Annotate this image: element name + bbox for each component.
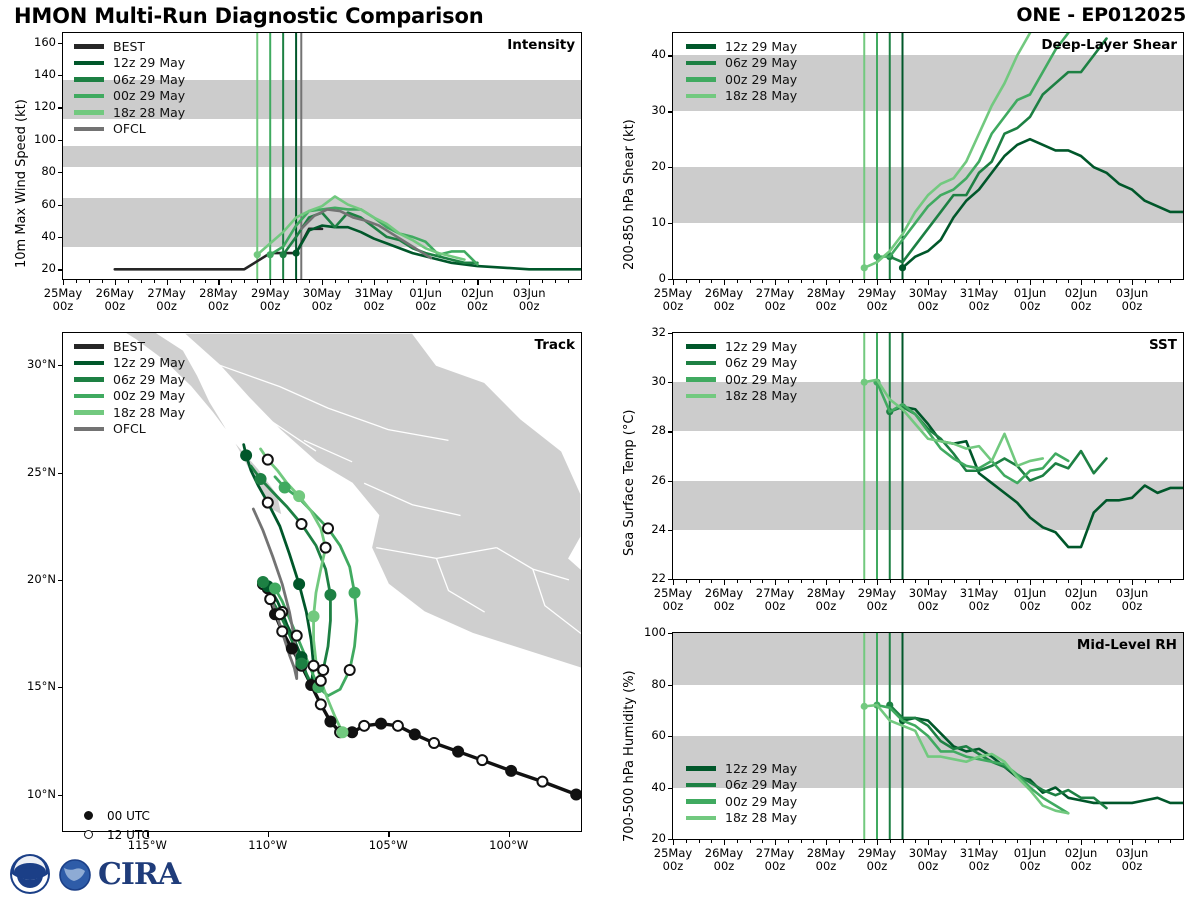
y-axis-tick-label: 30 xyxy=(630,103,666,117)
track-marker-00utc xyxy=(258,577,268,587)
x-axis-minor-tick xyxy=(516,279,517,283)
x-axis-minor-tick xyxy=(750,839,751,843)
x-axis-minor-tick xyxy=(762,579,763,583)
track-marker-00utc xyxy=(280,483,290,493)
legend-swatch xyxy=(686,394,716,399)
legend-label: 00z 29 May xyxy=(725,794,797,809)
legend-swatch xyxy=(686,61,716,66)
x-axis-minor-tick xyxy=(737,279,738,283)
legend-swatch xyxy=(686,344,716,349)
x-axis-tick xyxy=(374,279,375,285)
track-marker-12utc xyxy=(277,626,287,636)
x-axis-minor-tick xyxy=(954,579,955,583)
x-axis-minor-tick xyxy=(1043,839,1044,843)
x-axis-tick xyxy=(167,279,168,285)
x-axis-tick xyxy=(1081,579,1082,585)
cira-wordmark: CIRA xyxy=(98,857,180,892)
track-marker-00utc xyxy=(506,766,516,776)
legend-label: 18z 28 May xyxy=(725,810,797,825)
x-axis-minor-tick xyxy=(788,839,789,843)
x-axis-minor-tick xyxy=(686,839,687,843)
x-axis-minor-tick xyxy=(1005,579,1006,583)
x-axis-tick xyxy=(1030,279,1031,285)
x-axis-minor-tick xyxy=(864,279,865,283)
x-axis-tick xyxy=(1132,839,1133,845)
track-marker-12utc xyxy=(309,661,319,671)
x-axis-minor-tick xyxy=(283,279,284,283)
x-axis-tick xyxy=(724,279,725,285)
x-axis-tick xyxy=(724,579,725,585)
track-marker-00utc xyxy=(376,719,386,729)
x-axis-minor-tick xyxy=(954,839,955,843)
x-axis-minor-tick xyxy=(864,579,865,583)
x-axis-minor-tick xyxy=(686,579,687,583)
legend-track: BEST12z 29 May06z 29 May00z 29 May18z 28… xyxy=(74,338,185,437)
track-marker-00utc xyxy=(241,450,251,460)
axis-label-rh: 700-500 hPa Humidity (%) xyxy=(622,670,637,842)
x-axis-minor-tick xyxy=(1158,839,1159,843)
legend-label: OFCL xyxy=(113,121,146,136)
marker-legend-label: 12 UTC xyxy=(107,828,150,842)
y-axis-tick-label: 32 xyxy=(630,325,666,339)
legend-item: 00z 29 May xyxy=(74,88,185,105)
x-axis-minor-tick xyxy=(439,279,440,283)
y-axis-tick-label: 40 xyxy=(630,780,666,794)
series-init-marker xyxy=(861,264,868,271)
x-axis-minor-tick xyxy=(890,839,891,843)
globe-icon xyxy=(56,854,94,894)
x-axis-minor-tick xyxy=(699,579,700,583)
x-axis-minor-tick xyxy=(762,839,763,843)
x-axis-minor-tick xyxy=(941,279,942,283)
legend-item: 18z 28 May xyxy=(74,404,185,421)
legend-marker-times: 00 UTC12 UTC xyxy=(74,806,150,844)
x-axis-minor-tick xyxy=(387,279,388,283)
latitude-tick-label: 10°N xyxy=(10,787,56,801)
x-axis-tick xyxy=(724,839,725,845)
x-axis-minor-tick xyxy=(903,839,904,843)
longitude-tick xyxy=(509,831,510,837)
x-axis-minor-tick xyxy=(1170,839,1171,843)
x-axis-minor-tick xyxy=(788,279,789,283)
track-marker-00utc xyxy=(453,747,463,757)
track-marker-12utc xyxy=(323,523,333,533)
legend-item: BEST xyxy=(74,338,185,355)
legend-label: 00z 29 May xyxy=(725,72,797,87)
x-axis-tick xyxy=(673,839,674,845)
x-axis-minor-tick xyxy=(711,579,712,583)
track-marker-12utc xyxy=(537,777,547,787)
legend-item: 06z 29 May xyxy=(74,371,185,388)
x-axis-tick-label: 03Jun00z xyxy=(1098,847,1166,873)
track-marker-12utc xyxy=(263,455,273,465)
track-marker-00utc xyxy=(347,727,357,737)
x-axis-minor-tick xyxy=(801,579,802,583)
noaa-logo-icon: NOAA xyxy=(8,852,52,896)
x-axis-minor-tick xyxy=(1043,279,1044,283)
x-axis-minor-tick xyxy=(1017,279,1018,283)
panel-title-intensity: Intensity xyxy=(507,37,575,53)
x-axis-minor-tick xyxy=(1094,279,1095,283)
legend-label: 06z 29 May xyxy=(113,372,185,387)
marker-legend-item: 00 UTC xyxy=(74,806,150,825)
x-axis-minor-tick xyxy=(852,839,853,843)
series-line xyxy=(864,705,1068,813)
x-axis-minor-tick xyxy=(903,279,904,283)
track-marker-00utc xyxy=(309,611,319,621)
series-init-marker xyxy=(254,251,261,258)
longitude-tick xyxy=(388,831,389,837)
x-axis-minor-tick xyxy=(490,279,491,283)
legend-item: 12z 29 May xyxy=(686,338,797,355)
x-axis-minor-tick xyxy=(244,279,245,283)
y-axis-tick-label: 22 xyxy=(630,571,666,585)
track-marker-00utc xyxy=(410,729,420,739)
track-marker-12utc xyxy=(316,676,326,686)
track-marker-00utc xyxy=(350,588,360,598)
track-marker-00utc xyxy=(294,579,304,589)
legend-label: BEST xyxy=(113,39,145,54)
legend-swatch xyxy=(686,44,716,49)
x-axis-minor-tick xyxy=(915,839,916,843)
x-axis-minor-tick xyxy=(102,279,103,283)
legend-item: 12z 29 May xyxy=(74,55,185,72)
y-axis-tick-label: 20 xyxy=(630,159,666,173)
x-axis-minor-tick xyxy=(992,579,993,583)
x-axis-minor-tick xyxy=(839,839,840,843)
x-axis-minor-tick xyxy=(309,279,310,283)
x-axis-minor-tick xyxy=(762,279,763,283)
x-axis-tick xyxy=(673,279,674,285)
legend-swatch xyxy=(686,766,716,771)
x-axis-tick xyxy=(1030,839,1031,845)
x-axis-tick xyxy=(877,579,878,585)
x-axis-minor-tick xyxy=(348,279,349,283)
legend-item: BEST xyxy=(74,38,185,55)
x-axis-minor-tick xyxy=(154,279,155,283)
legend-label: 12z 29 May xyxy=(725,761,797,776)
legend-label: 12z 29 May xyxy=(113,355,185,370)
x-axis-minor-tick xyxy=(954,279,955,283)
x-axis-minor-tick xyxy=(852,279,853,283)
x-axis-tick-label: 03Jun00z xyxy=(495,287,563,313)
legend-label: 18z 28 May xyxy=(113,105,185,120)
x-axis-tick xyxy=(673,579,674,585)
x-axis-minor-tick xyxy=(711,839,712,843)
track-marker-12utc xyxy=(263,498,273,508)
y-axis-tick-label: 40 xyxy=(20,229,56,243)
track-marker-00utc xyxy=(270,583,280,593)
x-axis-tick xyxy=(979,839,980,845)
x-axis-minor-tick xyxy=(839,279,840,283)
x-axis-minor-tick xyxy=(813,279,814,283)
series-init-marker xyxy=(267,251,274,258)
x-axis-minor-tick xyxy=(555,279,556,283)
x-axis-tick xyxy=(1081,279,1082,285)
x-axis-tick xyxy=(775,579,776,585)
x-axis-minor-tick xyxy=(737,839,738,843)
legend-sst: 12z 29 May06z 29 May00z 29 May18z 28 May xyxy=(686,338,797,404)
x-axis-minor-tick xyxy=(180,279,181,283)
y-axis-tick-label: 120 xyxy=(20,99,56,113)
x-axis-tick xyxy=(775,279,776,285)
legend-swatch xyxy=(74,94,104,99)
legend-item: 00z 29 May xyxy=(686,371,797,388)
x-axis-tick xyxy=(1132,279,1133,285)
legend-item: 18z 28 May xyxy=(74,104,185,121)
y-axis-tick-label: 24 xyxy=(630,522,666,536)
legend-item: 12z 29 May xyxy=(686,760,797,777)
panel-title-rh: Mid-Level RH xyxy=(1077,637,1177,653)
x-axis-minor-tick xyxy=(699,839,700,843)
x-axis-minor-tick xyxy=(890,279,891,283)
legend-label: 12z 29 May xyxy=(725,39,797,54)
y-axis-tick-label: 30 xyxy=(630,374,666,388)
y-axis-tick-label: 40 xyxy=(630,47,666,61)
track-marker-00utc xyxy=(256,474,266,484)
x-axis-minor-tick xyxy=(737,579,738,583)
series-line xyxy=(903,139,1184,268)
x-axis-tick xyxy=(1132,579,1133,585)
y-axis-tick-label: 10 xyxy=(630,215,666,229)
x-axis-minor-tick xyxy=(89,279,90,283)
y-axis-tick-label: 0 xyxy=(630,271,666,285)
x-axis-minor-tick xyxy=(1119,839,1120,843)
track-marker-00utc xyxy=(297,659,307,669)
x-axis-minor-tick xyxy=(296,279,297,283)
legend-item: 06z 29 May xyxy=(686,355,797,372)
legend-item: 06z 29 May xyxy=(686,777,797,794)
legend-item: 06z 29 May xyxy=(74,71,185,88)
panel-title-track: Track xyxy=(535,337,575,353)
x-axis-minor-tick xyxy=(1170,579,1171,583)
track-marker-12utc xyxy=(321,543,331,553)
legend-swatch xyxy=(74,61,104,66)
filled-circle-icon xyxy=(84,811,93,820)
x-axis-minor-tick xyxy=(76,279,77,283)
marker-legend-label: 00 UTC xyxy=(107,809,150,823)
x-axis-minor-tick xyxy=(231,279,232,283)
x-axis-minor-tick xyxy=(788,579,789,583)
diagnostic-figure: HMON Multi-Run Diagnostic Comparison ONE… xyxy=(0,0,1200,900)
x-axis-minor-tick xyxy=(335,279,336,283)
x-axis-tick xyxy=(928,839,929,845)
legend-swatch xyxy=(686,77,716,82)
legend-swatch xyxy=(686,799,716,804)
series-line xyxy=(890,39,1107,263)
legend-swatch xyxy=(74,110,104,115)
y-axis-tick-label: 160 xyxy=(20,35,56,49)
legend-label: BEST xyxy=(113,339,145,354)
x-axis-tick xyxy=(63,279,64,285)
x-axis-minor-tick xyxy=(1017,579,1018,583)
track-marker-12utc xyxy=(345,665,355,675)
x-axis-minor-tick xyxy=(1170,279,1171,283)
x-axis-tick xyxy=(775,839,776,845)
page-title: HMON Multi-Run Diagnostic Comparison xyxy=(14,4,483,28)
latitude-tick-label: 30°N xyxy=(10,357,56,371)
x-axis-tick xyxy=(426,279,427,285)
x-axis-minor-tick xyxy=(903,579,904,583)
x-axis-minor-tick xyxy=(1056,279,1057,283)
longitude-tick-label: 100°W xyxy=(475,839,543,852)
x-axis-minor-tick xyxy=(915,579,916,583)
series-init-marker xyxy=(861,379,868,386)
legend-label: 06z 29 May xyxy=(725,55,797,70)
legend-label: 00z 29 May xyxy=(113,88,185,103)
series-init-marker xyxy=(280,251,287,258)
x-axis-minor-tick xyxy=(915,279,916,283)
x-axis-minor-tick xyxy=(801,839,802,843)
axis-label-shear: 200-850 hPa Shear (kt) xyxy=(622,119,637,270)
x-axis-tick xyxy=(928,279,929,285)
series-init-marker xyxy=(861,703,868,710)
panel-title-shear: Deep-Layer Shear xyxy=(1041,37,1177,53)
track-marker-00utc xyxy=(337,727,347,737)
x-axis-minor-tick xyxy=(1119,579,1120,583)
y-axis-tick-label: 140 xyxy=(20,67,56,81)
track-marker-12utc xyxy=(316,699,326,709)
x-axis-minor-tick xyxy=(801,279,802,283)
x-axis-tick xyxy=(477,279,478,285)
legend-item: 00z 29 May xyxy=(74,388,185,405)
y-axis-tick-label: 28 xyxy=(630,423,666,437)
x-axis-tick xyxy=(218,279,219,285)
x-axis-tick-label: 03Jun00z xyxy=(1098,287,1166,313)
x-axis-minor-tick xyxy=(750,279,751,283)
x-axis-minor-tick xyxy=(568,279,569,283)
x-axis-minor-tick xyxy=(1094,839,1095,843)
legend-label: OFCL xyxy=(113,421,146,436)
legend-swatch xyxy=(74,44,104,49)
x-axis-minor-tick xyxy=(361,279,362,283)
x-axis-minor-tick xyxy=(141,279,142,283)
legend-label: 06z 29 May xyxy=(725,777,797,792)
x-axis-tick xyxy=(1030,579,1031,585)
track-marker-12utc xyxy=(477,755,487,765)
x-axis-minor-tick xyxy=(1056,839,1057,843)
x-axis-minor-tick xyxy=(205,279,206,283)
legend-item: OFCL xyxy=(74,421,185,438)
x-axis-minor-tick xyxy=(1107,279,1108,283)
longitude-tick-label: 105°W xyxy=(354,839,422,852)
y-axis-tick-label: 60 xyxy=(20,197,56,211)
x-axis-tick xyxy=(826,579,827,585)
track-marker-00utc xyxy=(287,644,297,654)
x-axis-minor-tick xyxy=(992,839,993,843)
x-axis-minor-tick xyxy=(992,279,993,283)
x-axis-minor-tick xyxy=(128,279,129,283)
x-axis-minor-tick xyxy=(1145,839,1146,843)
legend-item: 00z 29 May xyxy=(686,793,797,810)
track-marker-12utc xyxy=(292,631,302,641)
x-axis-tick xyxy=(270,279,271,285)
x-axis-minor-tick xyxy=(1158,579,1159,583)
legend-shear: 12z 29 May06z 29 May00z 29 May18z 28 May xyxy=(686,38,797,104)
track-marker-12utc xyxy=(275,609,285,619)
x-axis-minor-tick xyxy=(966,279,967,283)
legend-swatch xyxy=(686,816,716,821)
x-axis-minor-tick xyxy=(966,839,967,843)
marker-legend-item: 12 UTC xyxy=(74,825,150,844)
x-axis-minor-tick xyxy=(966,579,967,583)
track-marker-00utc xyxy=(325,717,335,727)
x-axis-minor-tick xyxy=(400,279,401,283)
legend-label: 12z 29 May xyxy=(113,55,185,70)
track-marker-12utc xyxy=(393,721,403,731)
legend-swatch xyxy=(74,410,104,415)
series-init-marker xyxy=(899,264,906,271)
x-axis-tick xyxy=(826,279,827,285)
track-marker-00utc xyxy=(571,790,581,800)
x-axis-minor-tick xyxy=(864,839,865,843)
x-axis-minor-tick xyxy=(1107,579,1108,583)
x-axis-minor-tick xyxy=(1068,279,1069,283)
x-axis-tick xyxy=(826,839,827,845)
legend-label: 12z 29 May xyxy=(725,339,797,354)
x-axis-minor-tick xyxy=(542,279,543,283)
open-circle-icon xyxy=(84,830,93,839)
x-axis-minor-tick xyxy=(193,279,194,283)
x-axis-tick xyxy=(928,579,929,585)
legend-item: OFCL xyxy=(74,121,185,138)
series-line xyxy=(877,382,1068,483)
x-axis-tick xyxy=(1081,839,1082,845)
legend-item: 00z 29 May xyxy=(686,71,797,88)
legend-swatch xyxy=(686,361,716,366)
x-axis-minor-tick xyxy=(686,279,687,283)
panel-title-sst: SST xyxy=(1149,337,1177,353)
legend-swatch xyxy=(74,77,104,82)
x-axis-minor-tick xyxy=(1005,839,1006,843)
track-marker-12utc xyxy=(429,738,439,748)
legend-intensity: BEST12z 29 May06z 29 May00z 29 May18z 28… xyxy=(74,38,185,137)
legend-swatch xyxy=(686,377,716,382)
x-axis-minor-tick xyxy=(1145,579,1146,583)
legend-item: 18z 28 May xyxy=(686,810,797,827)
x-axis-minor-tick xyxy=(452,279,453,283)
x-axis-minor-tick xyxy=(503,279,504,283)
legend-label: 06z 29 May xyxy=(113,72,185,87)
series-line xyxy=(296,226,581,270)
x-axis-minor-tick xyxy=(852,579,853,583)
x-axis-minor-tick xyxy=(1119,279,1120,283)
x-axis-minor-tick xyxy=(1145,279,1146,283)
legend-label: 00z 29 May xyxy=(725,372,797,387)
legend-item: 12z 29 May xyxy=(686,38,797,55)
x-axis-minor-tick xyxy=(1158,279,1159,283)
x-axis-minor-tick xyxy=(1017,839,1018,843)
longitude-tick xyxy=(268,831,269,837)
x-axis-minor-tick xyxy=(257,279,258,283)
track-marker-00utc xyxy=(294,491,304,501)
y-axis-tick-label: 100 xyxy=(20,132,56,146)
legend-swatch xyxy=(74,344,104,349)
x-axis-minor-tick xyxy=(413,279,414,283)
x-axis-tick xyxy=(979,279,980,285)
y-axis-tick-label: 100 xyxy=(630,625,666,639)
latitude-tick-label: 25°N xyxy=(10,465,56,479)
x-axis-minor-tick xyxy=(1005,279,1006,283)
legend-label: 18z 28 May xyxy=(113,405,185,420)
track-marker-00utc xyxy=(325,590,335,600)
track-marker-12utc xyxy=(318,665,328,675)
series-line xyxy=(257,196,464,259)
legend-swatch xyxy=(74,394,104,399)
legend-label: 18z 28 May xyxy=(725,388,797,403)
track-marker-12utc xyxy=(265,594,275,604)
legend-swatch xyxy=(74,127,104,132)
